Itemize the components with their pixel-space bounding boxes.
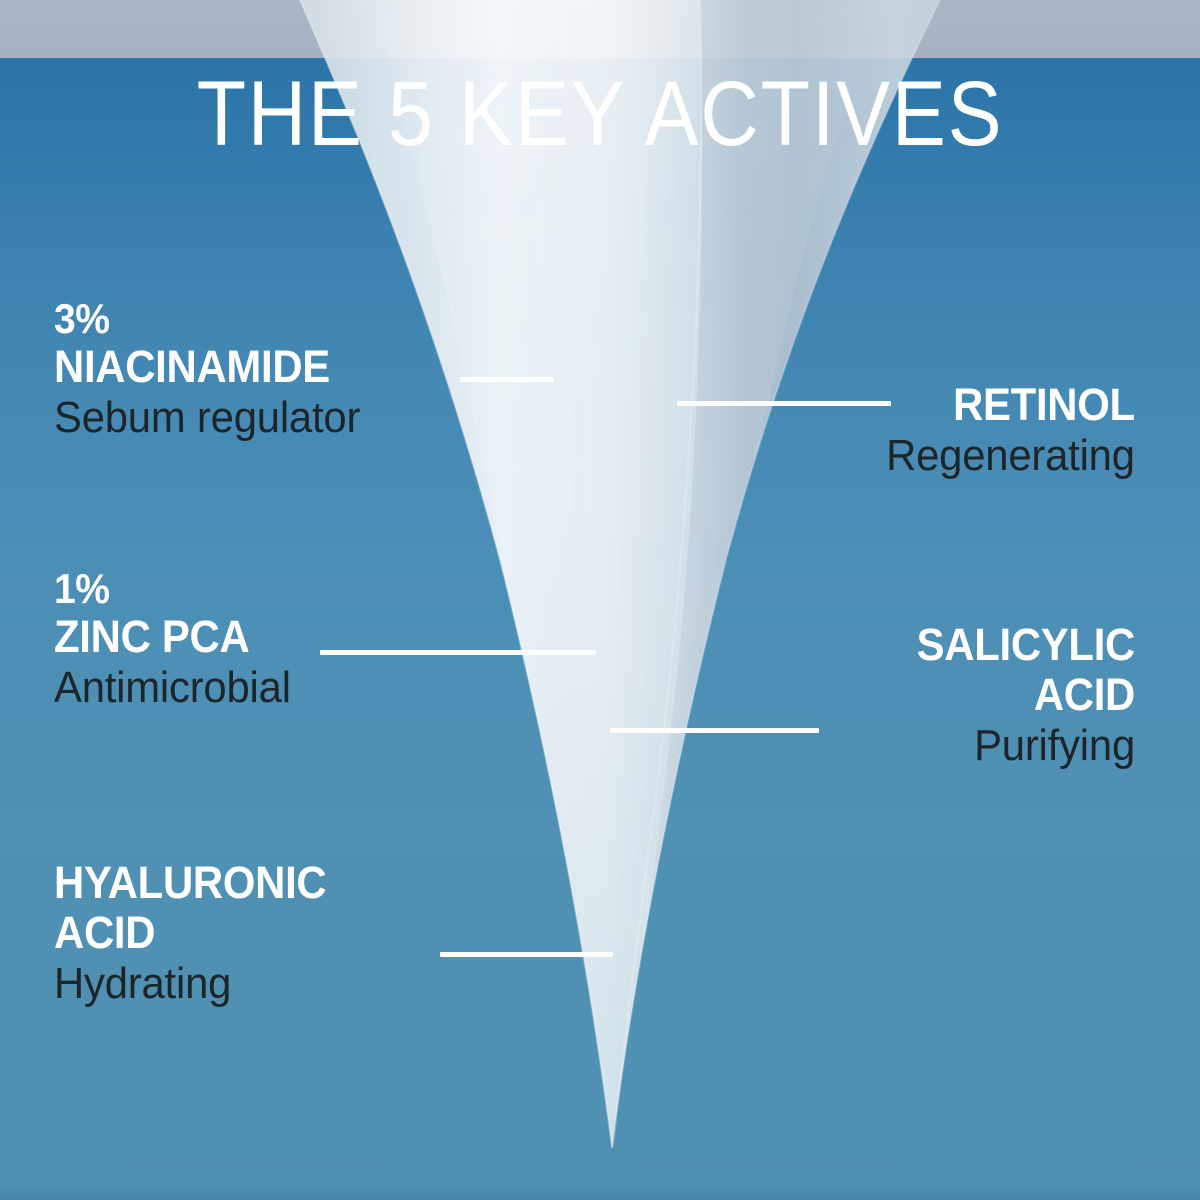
page-title: THE 5 KEY ACTIVES bbox=[72, 74, 1128, 154]
background-top-strip bbox=[0, 0, 1200, 58]
callout-benefit: Purifying bbox=[850, 720, 1135, 772]
callout-retinol: RETINOL Regenerating bbox=[873, 380, 1135, 482]
callout-benefit: Antimicrobial bbox=[54, 662, 291, 714]
background-bottom-edge bbox=[0, 1188, 1200, 1200]
callout-ingredient-name: ZINC PCA bbox=[54, 612, 286, 662]
leader-line-zinc-pca bbox=[320, 650, 596, 655]
callout-zinc-pca: 1% ZINC PCA Antimicrobial bbox=[54, 566, 303, 714]
leader-line-hyaluronic-acid bbox=[440, 952, 613, 957]
callout-benefit: Regenerating bbox=[886, 430, 1135, 482]
callout-percent: 1% bbox=[54, 566, 286, 612]
leader-line-retinol bbox=[677, 401, 891, 406]
callout-percent: 3% bbox=[54, 296, 354, 342]
callout-salicylic-acid: SALICYLIC ACID Purifying bbox=[835, 620, 1135, 772]
callout-niacinamide: 3% NIACINAMIDE Sebum regulator bbox=[54, 296, 376, 444]
callout-hyaluronic-acid: HYALURONIC ACID Hydrating bbox=[54, 858, 414, 1010]
callout-benefit: Hydrating bbox=[54, 958, 396, 1010]
leader-line-niacinamide bbox=[460, 377, 554, 382]
callout-ingredient-name: SALICYLIC ACID bbox=[856, 620, 1135, 720]
callout-ingredient-name: RETINOL bbox=[892, 380, 1135, 430]
infographic-canvas: THE 5 KEY ACTIVES 3% NIACINAMIDE Sebum r… bbox=[0, 0, 1200, 1200]
callout-benefit: Sebum regulator bbox=[54, 392, 360, 444]
callout-ingredient-name: NIACINAMIDE bbox=[54, 342, 354, 392]
callout-ingredient-name: HYALURONIC ACID bbox=[54, 858, 389, 958]
leader-line-salicylic-acid bbox=[610, 728, 819, 733]
